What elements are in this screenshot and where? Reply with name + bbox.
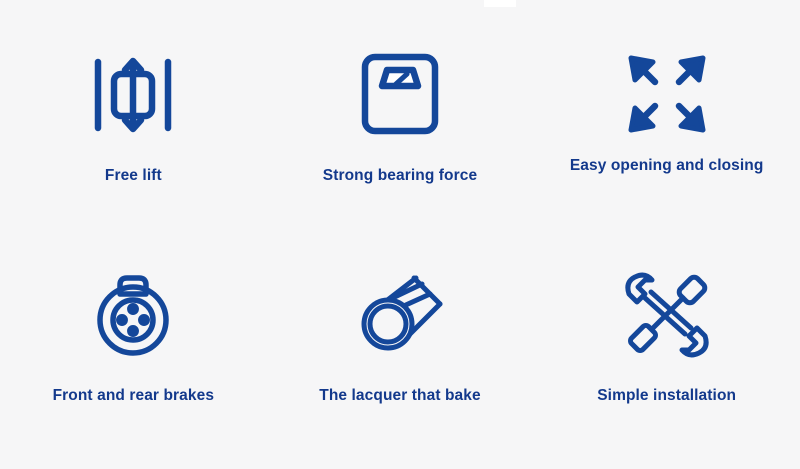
feature-item-front-rear-brakes[interactable]: Front and rear brakes (0, 232, 267, 469)
weighing-scale-icon (360, 52, 440, 136)
feature-grid-panel: Free lift Strong bearing force (0, 0, 800, 469)
features-grid: Free lift Strong bearing force (0, 0, 800, 469)
brake-disc-icon (90, 270, 176, 360)
feature-item-lacquer-that-bake[interactable]: The lacquer that bake (267, 232, 534, 469)
feature-item-strong-bearing-force[interactable]: Strong bearing force (267, 0, 534, 232)
metal-tube-icon (352, 270, 448, 358)
feature-item-easy-opening-closing[interactable]: Easy opening and closing (533, 0, 800, 232)
wrench-screwdriver-icon (623, 272, 711, 358)
feature-label: Front and rear brakes (53, 388, 214, 404)
feature-label: Easy opening and closing (570, 158, 764, 174)
feature-label: Free lift (105, 168, 162, 184)
feature-label: Simple installation (597, 388, 736, 404)
expand-arrows-icon (625, 52, 709, 136)
feature-label: The lacquer that bake (319, 388, 480, 404)
feature-item-free-lift[interactable]: Free lift (0, 0, 267, 232)
feature-item-simple-installation[interactable]: Simple installation (533, 232, 800, 469)
free-lift-icon (90, 52, 176, 138)
feature-label: Strong bearing force (323, 168, 477, 184)
